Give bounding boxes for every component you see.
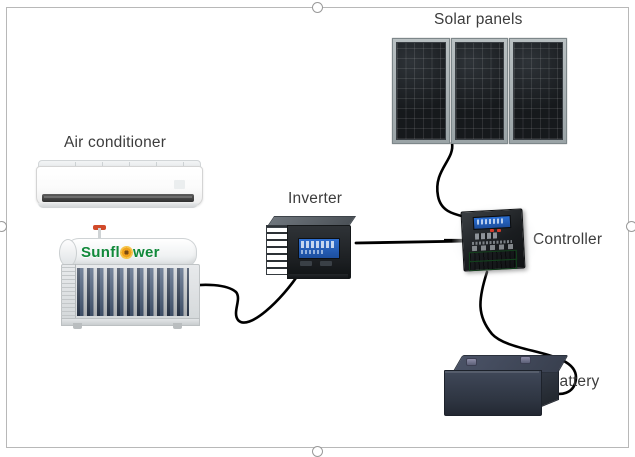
inverter-button-right[interactable] xyxy=(320,261,332,266)
inverter-unit[interactable] xyxy=(266,216,354,280)
sunflower-icon xyxy=(120,246,133,259)
resize-handle-top-center[interactable] xyxy=(312,2,323,13)
solar-cells-icon xyxy=(455,42,505,140)
wh-leg-left xyxy=(73,323,82,329)
wh-leg-right xyxy=(173,323,182,329)
wh-brand-suffix: wer xyxy=(133,244,160,261)
wh-tank-end-cap xyxy=(59,239,77,267)
ac-display-icon xyxy=(174,180,185,189)
resize-handle-bottom-center[interactable] xyxy=(312,446,323,457)
solar-panel-2 xyxy=(451,38,509,144)
inverter-lcd-subtext xyxy=(301,250,323,254)
ac-vent-louver xyxy=(44,196,192,198)
battery-terminal-negative-icon xyxy=(466,358,477,366)
solar-water-heater[interactable]: Sunflwer xyxy=(55,232,203,330)
controller-led-2-icon xyxy=(497,229,501,232)
diagram-canvas: Solar panels Air conditioner Inverter Co… xyxy=(0,0,635,454)
solar-panel-1 xyxy=(392,38,450,144)
wh-brand-text: Sunflwer xyxy=(81,243,189,262)
label-air-conditioner: Air conditioner xyxy=(64,134,166,152)
resize-handle-right-middle[interactable] xyxy=(626,221,635,232)
charge-controller-unit[interactable] xyxy=(462,210,528,272)
solar-panel-3 xyxy=(509,38,567,144)
controller-buttons[interactable] xyxy=(475,232,497,239)
label-inverter: Inverter xyxy=(288,190,342,208)
inverter-button-left[interactable] xyxy=(300,261,312,266)
solar-cells-icon xyxy=(396,42,446,140)
wh-side-panel xyxy=(61,264,76,320)
ac-base xyxy=(38,203,198,208)
wh-brand-prefix: Sunfl xyxy=(81,244,120,261)
solar-cells-icon xyxy=(513,42,563,140)
battery-unit[interactable] xyxy=(444,355,564,417)
label-solar-panels: Solar panels xyxy=(434,11,523,29)
battery-terminal-positive-icon xyxy=(520,356,531,364)
label-controller: Controller xyxy=(533,231,602,249)
solar-panel-array[interactable] xyxy=(392,38,568,144)
wh-tube-shading xyxy=(77,268,189,316)
battery-top-edge xyxy=(445,371,539,373)
inverter-base xyxy=(288,274,348,278)
air-conditioner-unit[interactable] xyxy=(36,160,201,212)
inverter-lcd-digits xyxy=(301,241,335,248)
battery-front-face xyxy=(444,370,542,416)
